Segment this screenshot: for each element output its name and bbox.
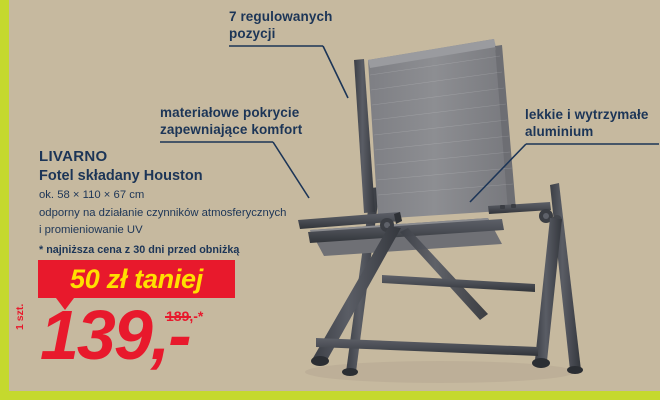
promo-discount-label: 50 zł taniej: [38, 260, 235, 298]
old-price-asterisk: *: [198, 308, 203, 324]
callout-fabric-cover: materiałowe pokrycie zapewniające komfor…: [160, 104, 350, 138]
callout-adjustable-positions: 7 regulowanych pozycji: [229, 8, 379, 42]
price-legal-note: * najniższa cena z 30 dni przed obniżką: [39, 243, 299, 258]
old-price: 189,-*: [166, 308, 203, 324]
advertisement-flyer: 7 regulowanych pozycji materiałowe pokry…: [0, 0, 660, 400]
product-spec-uv: i promieniowanie UV: [39, 223, 299, 239]
old-price-value: 189,-: [166, 308, 198, 324]
product-spec-weather: odporny na działanie czynników atmosfery…: [39, 206, 299, 222]
promo-discount-banner: 50 zł taniej: [38, 260, 235, 298]
product-image-folding-chair: [250, 20, 660, 392]
product-name: Fotel składany Houston: [39, 167, 299, 186]
brand-accent-stripe-left: [0, 0, 9, 400]
brand-accent-stripe-bottom: [0, 391, 660, 400]
brand-name: LIVARNO: [39, 148, 299, 166]
product-spec-dimensions: ok. 58 × 110 × 67 cm: [39, 188, 299, 204]
callout-aluminium: lekkie i wytrzymałe aluminium: [525, 106, 660, 140]
unit-label: 1 szt.: [14, 304, 26, 330]
product-copy-block: LIVARNO Fotel składany Houston ok. 58 × …: [39, 148, 299, 258]
